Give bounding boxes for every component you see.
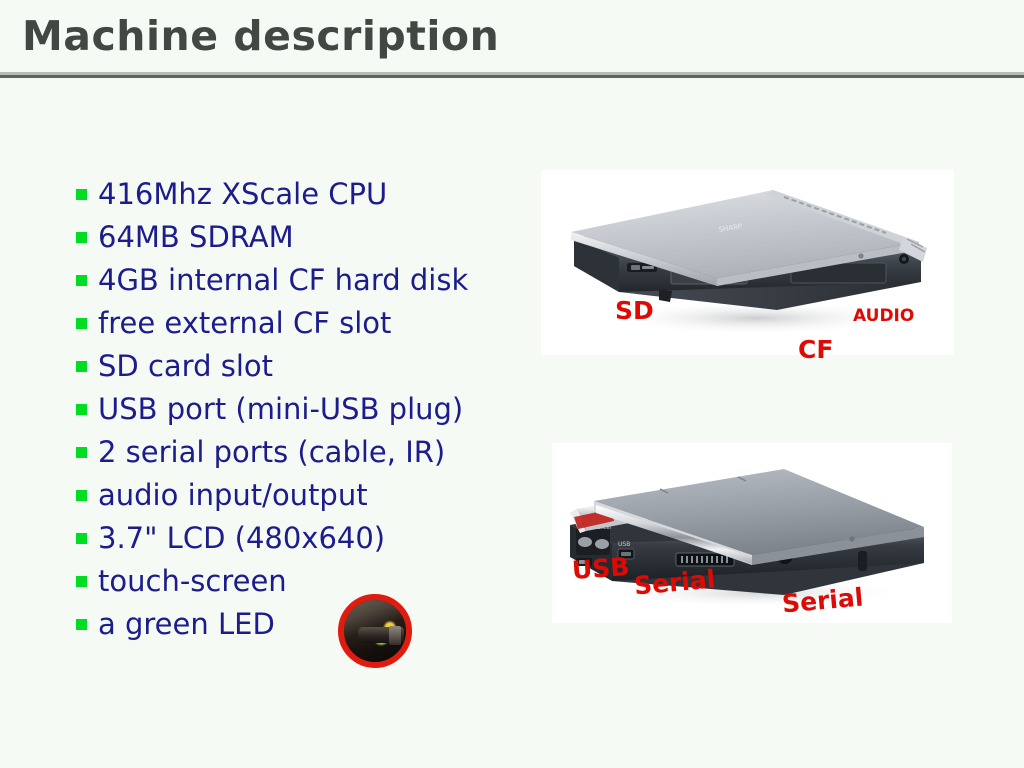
title-divider [0,72,1024,78]
list-item: audio input/output [76,477,546,520]
bullet-square-icon [76,576,87,587]
list-item: a green LED [76,606,546,649]
list-item-label: audio input/output [98,477,368,513]
annotation-audio: AUDIO [853,306,914,326]
annotation-cf: CF [798,335,833,364]
list-item-label: SD card slot [98,348,273,384]
list-item: 64MB SDRAM [76,219,546,262]
bullet-square-icon [76,275,87,286]
led-plug [389,626,401,645]
device-photo-bottom: ON Cancel USB [552,443,952,623]
divider-dark-band [0,75,1024,78]
list-item-label: 2 serial ports (cable, IR) [98,434,445,470]
annotation-usb: USB [571,552,630,585]
list-item-label: 3.7" LCD (480x640) [98,520,385,556]
bullet-square-icon [76,189,87,200]
list-item: 416Mhz XScale CPU [76,176,546,219]
bullet-square-icon [76,619,87,630]
list-item-label: 416Mhz XScale CPU [98,176,387,212]
bullet-square-icon [76,318,87,329]
list-item: 2 serial ports (cable, IR) [76,434,546,477]
led-closeup-photo [338,594,412,668]
bullet-square-icon [76,533,87,544]
bullet-square-icon [76,404,87,415]
list-item: 3.7" LCD (480x640) [76,520,546,563]
device-photo-bottom-illustration: ON Cancel USB [552,443,952,623]
list-item-label: a green LED [98,606,275,642]
list-item: 4GB internal CF hard disk [76,262,546,305]
list-item: USB port (mini-USB plug) [76,391,546,434]
page-title: Machine description [22,12,499,60]
svg-text:USB: USB [618,541,630,548]
bullet-square-icon [76,490,87,501]
list-item-label: 64MB SDRAM [98,219,294,255]
device-photo-top-illustration: A 3D 0 4 SHARP [541,170,954,355]
specification-list: 416Mhz XScale CPU 64MB SDRAM 4GB interna… [76,176,546,649]
bullet-square-icon [76,232,87,243]
list-item-label: touch-screen [98,563,287,599]
list-item: touch-screen [76,563,546,606]
list-item: SD card slot [76,348,546,391]
annotation-sd: SD [615,296,654,325]
list-item: free external CF slot [76,305,546,348]
device-photo-top: A 3D 0 4 SHARP [541,170,954,355]
list-item-label: free external CF slot [98,305,391,341]
bullet-square-icon [76,447,87,458]
list-item-label: USB port (mini-USB plug) [98,391,463,427]
list-item-label: 4GB internal CF hard disk [98,262,468,298]
bullet-square-icon [76,361,87,372]
